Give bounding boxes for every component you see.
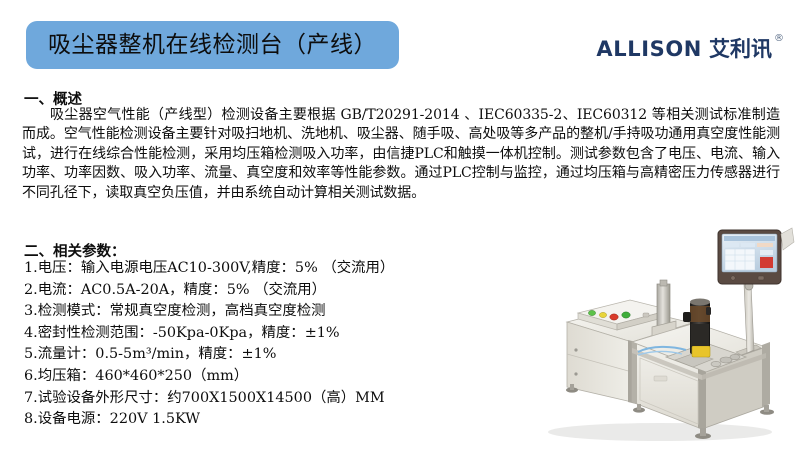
registered-trademark-icon: ® xyxy=(774,34,784,44)
slide-root: 吸尘器整机在线检测台（产线） ALLISON 艾利讯 ® 一、概述 吸尘器空气性… xyxy=(0,0,800,450)
parameters-list: 1.电压：输入电源电压AC10-300V,精度：5% （交流用） 2.电流：AC… xyxy=(24,258,544,431)
dust-cup xyxy=(692,346,710,357)
list-item: 3.检测模式：常规真空度检测，高档真空度检测 xyxy=(24,301,544,323)
indicator-red xyxy=(610,314,618,320)
indicator-green-1 xyxy=(588,310,595,315)
hmi-alarm-indicator xyxy=(760,257,773,268)
equipment-photo xyxy=(520,224,800,450)
equipment-shadow xyxy=(548,423,772,441)
orifice-3 xyxy=(711,361,721,366)
list-item: 6.均压箱：460*460*250（mm） xyxy=(24,366,544,388)
hmi-function-button xyxy=(758,276,764,280)
panel-switch xyxy=(643,313,649,317)
list-item: 7.试验设备外形尺寸：约700X1500X14500（高）MM xyxy=(24,388,544,410)
list-item: 8.设备电源：220V 1.5KW xyxy=(24,409,544,431)
indicator-green-2 xyxy=(622,312,630,318)
orifice-2 xyxy=(730,354,740,359)
list-item: 2.电流：AC0.5A-20A，精度：5% （交流用） xyxy=(24,280,544,302)
company-logo: ALLISON 艾利讯 ® xyxy=(596,36,784,64)
list-item: 1.电压：输入电源电压AC10-300V,精度：5% （交流用） xyxy=(24,258,544,280)
logo-text-cn: 艾利讯 xyxy=(709,36,772,62)
overview-paragraph: 吸尘器空气性能（产线型）检测设备主要根据 GB/T20291-2014 、IEC… xyxy=(22,106,780,203)
hmi-power-button xyxy=(731,276,735,280)
indicator-yellow xyxy=(599,312,606,317)
page-title: 吸尘器整机在线检测台（产线） xyxy=(48,34,377,57)
hmi-touch-panel xyxy=(718,228,794,284)
list-item: 4.密封性检测范围：-50Kpa-0Kpa，精度：±1% xyxy=(24,323,544,345)
hmi-screen-header xyxy=(724,236,775,241)
title-banner: 吸尘器整机在线检测台（产线） xyxy=(26,21,399,69)
logo-text-en: ALLISON xyxy=(596,36,702,62)
list-item: 5.流量计：0.5-5m³/min，精度：±1% xyxy=(24,344,544,366)
